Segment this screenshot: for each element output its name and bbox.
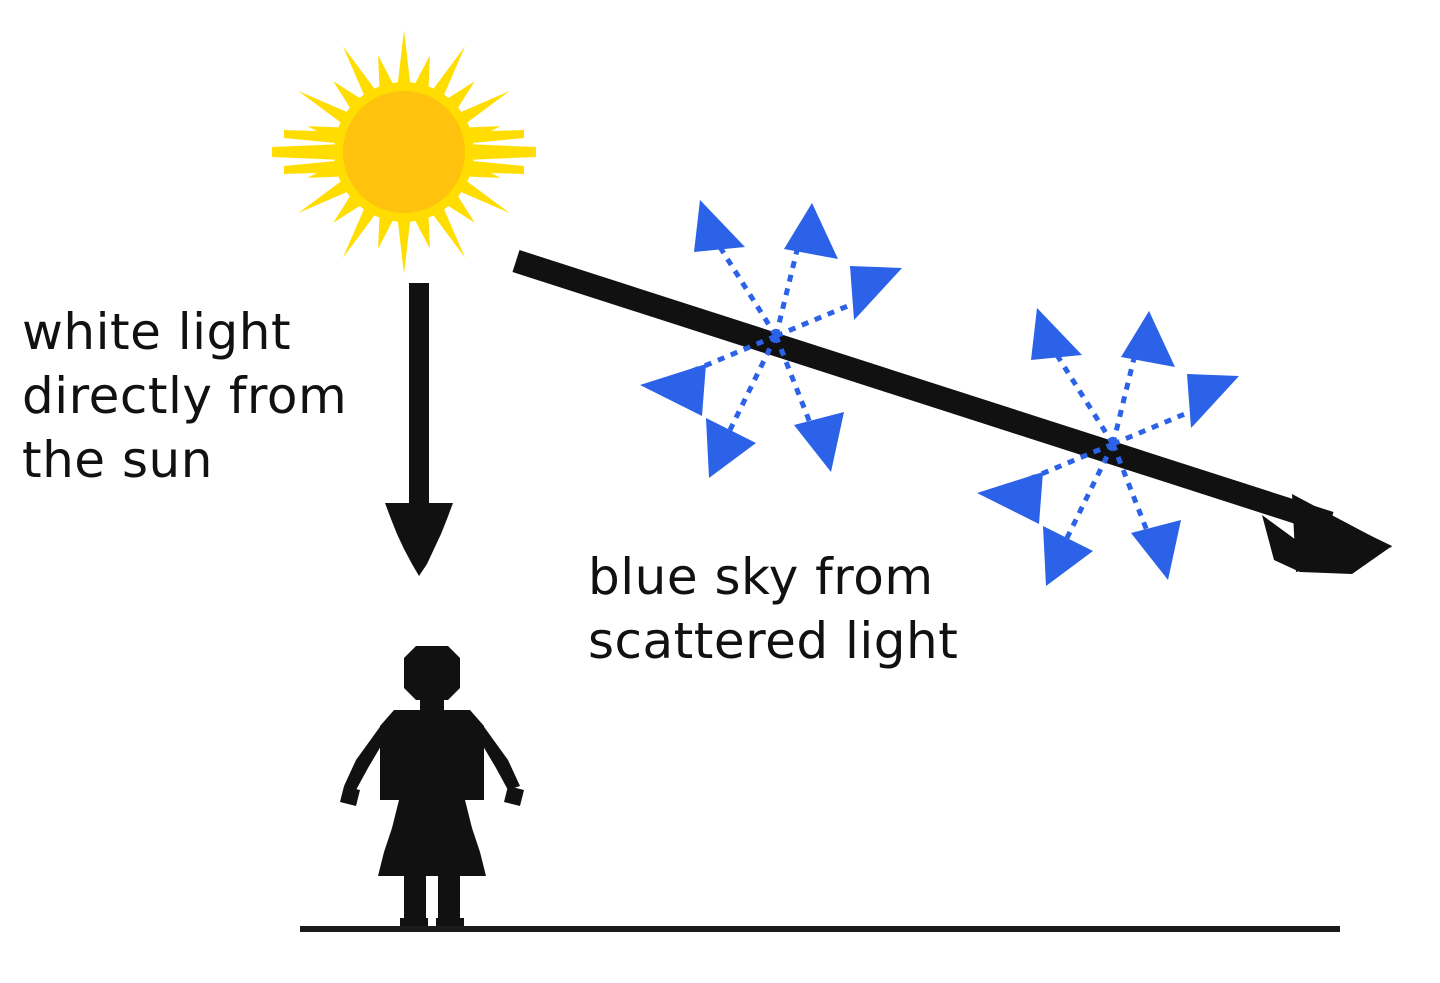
label-blue-sky: blue sky from scattered light [588, 545, 1048, 673]
sunlight-ray-through-atmosphere [516, 261, 1392, 574]
scatter-point-1 [640, 200, 902, 478]
diagram-canvas: white light directly from the sun blue s… [0, 0, 1440, 983]
observer-person [340, 646, 524, 928]
sun-disk [343, 91, 465, 213]
sun-icon [272, 30, 536, 274]
ground-line [300, 926, 1340, 932]
label-white-light: white light directly from the sun [22, 300, 422, 492]
